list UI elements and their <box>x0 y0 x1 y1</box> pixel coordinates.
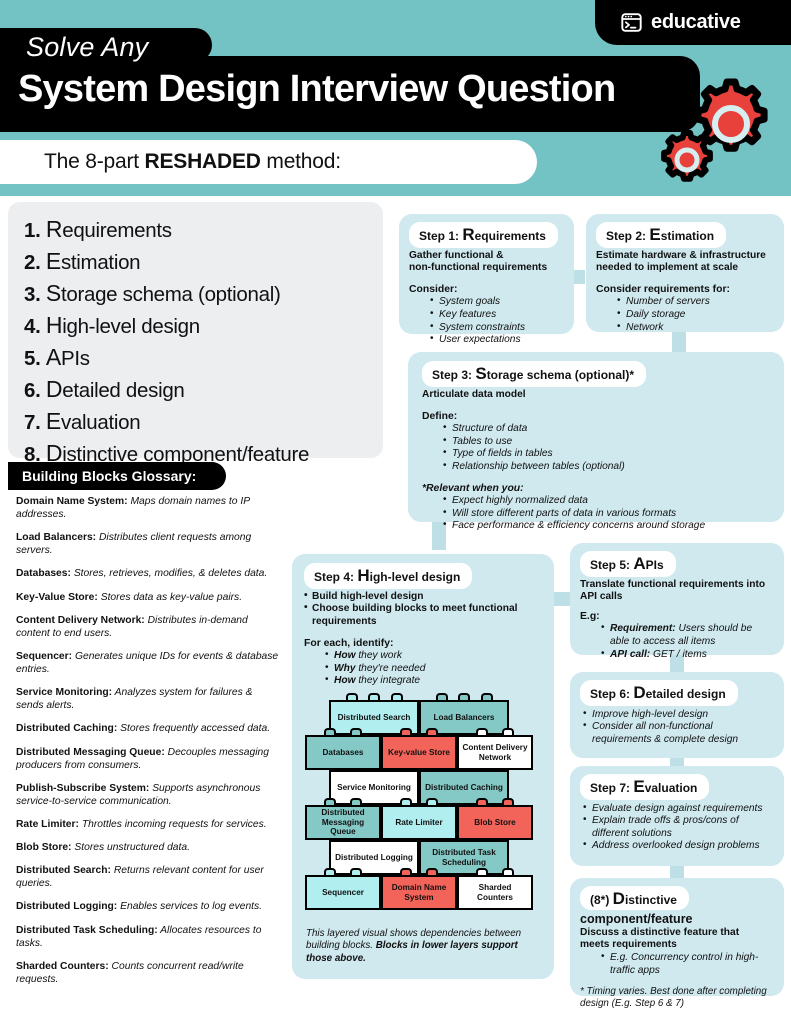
bullet: Will store different parts of data in va… <box>444 508 770 521</box>
glossary-item: Key-Value Store: Stores data as key-valu… <box>16 591 281 604</box>
step-7-title-pill: Step 7: Evaluation <box>580 774 709 800</box>
bullet: Explain trade offs & pros/cons of differ… <box>584 815 774 840</box>
step-2-title: Step 2: Estimation <box>606 229 714 243</box>
lego-brick[interactable]: Distributed Messaging Queue <box>305 805 381 840</box>
lego-brick[interactable]: Domain Name System <box>381 875 457 910</box>
bullet: Relationship between tables (optional) <box>444 461 770 474</box>
step-4-bullets: How they work Why they're needed How the… <box>326 650 542 688</box>
subtitle-keyword: RESHADED <box>145 150 261 173</box>
step-list-item: 3. Storage schema (optional) <box>24 278 367 310</box>
subtitle-pill: The 8-part RESHADED method: <box>0 140 537 184</box>
lego-brick[interactable]: Key-value Store <box>381 735 457 770</box>
step-3-title: Step 3: Storage schema (optional)* <box>432 368 634 382</box>
lego-brick[interactable]: Content Delivery Network <box>457 735 533 770</box>
glossary-item: Publish-Subscribe System: Supports async… <box>16 782 281 808</box>
bullet: Structure of data <box>444 423 770 436</box>
lego-brick[interactable]: Sequencer <box>305 875 381 910</box>
step-2-consider-label: Consider requirements for: <box>596 284 774 295</box>
subtitle-prefix: The 8-part <box>44 150 145 173</box>
step-2-box: Step 2: Estimation Estimate hardware & i… <box>586 214 784 332</box>
bullet: Face performance & efficiency concerns a… <box>444 520 770 533</box>
step-2-body-line-1: Estimate hardware & infrastructure <box>596 250 774 262</box>
step-3-box: Step 3: Storage schema (optional)* Artic… <box>408 352 784 522</box>
bullet: User expectations <box>431 334 564 347</box>
glossary-item: Distributed Caching: Stores frequently a… <box>16 722 281 735</box>
bullet: Network <box>618 322 774 335</box>
glossary-item: Sequencer: Generates unique IDs for even… <box>16 650 281 676</box>
connector-step4-step5 <box>552 592 572 606</box>
step-1-body-line-1: Gather functional & <box>409 250 564 262</box>
glossary-item: Distributed Search: Returns relevant con… <box>16 864 281 890</box>
step-8-body-line-2: meets requirements <box>580 939 774 951</box>
bullet: E.g. Concurrency control in high-traffic… <box>602 952 774 977</box>
subtitle-suffix: method: <box>261 150 341 173</box>
bullet: How they integrate <box>326 675 542 688</box>
step-8-title-line-2: component/feature <box>580 912 774 926</box>
step-6-bullets: Improve high-level design Consider all n… <box>584 709 774 747</box>
subtitle-text: The 8-part RESHADED method: <box>44 150 341 174</box>
step-8-body-line-1: Discuss a distinctive feature that <box>580 927 774 939</box>
step-7-bullets: Evaluate design against requirements Exp… <box>584 803 774 853</box>
bullet: Consider all non-functional requirements… <box>584 721 774 746</box>
step-1-box: Step 1: Requirements Gather functional &… <box>399 214 574 334</box>
title-eyebrow: Solve Any <box>26 32 148 63</box>
glossary-item: Sharded Counters: Counts concurrent read… <box>16 960 281 986</box>
step-8-title: (8*) Distinctive <box>590 893 677 907</box>
infographic-page: educative Solve Any System Design Interv… <box>0 0 791 1024</box>
bullet: System goals <box>431 296 564 309</box>
step-6-title: Step 6: Detailed design <box>590 687 726 701</box>
step-7-box: Step 7: Evaluation Evaluate design again… <box>570 766 784 866</box>
bullet: Key features <box>431 309 564 322</box>
step-4-top-bullets: Build high-level design Choose building … <box>304 591 542 629</box>
glossary-item: Rate Limiter: Throttles incoming request… <box>16 818 281 831</box>
step-6-title-pill: Step 6: Detailed design <box>580 680 738 706</box>
step-8-bullets: E.g. Concurrency control in high-traffic… <box>602 952 774 977</box>
step-5-eg-label: E.g: <box>580 611 774 622</box>
step-2-title-pill: Step 2: Estimation <box>596 222 726 248</box>
step-8-box: (8*) Distinctive component/feature Discu… <box>570 878 784 996</box>
step-5-bullets: Requirement: Users should be able to acc… <box>602 623 774 661</box>
step-6-box: Step 6: Detailed design Improve high-lev… <box>570 672 784 758</box>
reshaded-steps-card: 1. Requirements 2. Estimation 3. Storage… <box>8 202 383 458</box>
lego-brick[interactable]: Sharded Counters <box>457 875 533 910</box>
glossary-title: Building Blocks Glossary: <box>22 468 196 484</box>
bullet: Build high-level design <box>304 591 542 604</box>
bullet: Evaluate design against requirements <box>584 803 774 816</box>
glossary-item: Load Balancers: Distributes client reque… <box>16 531 281 557</box>
step-5-title: Step 5: APIs <box>590 558 664 572</box>
step-3-define-bullets: Structure of data Tables to use Type of … <box>444 423 770 473</box>
page-title: System Design Interview Question <box>18 68 615 111</box>
bullet: System constraints <box>431 322 564 335</box>
bullet: How they work <box>326 650 542 663</box>
terminal-window-icon <box>621 12 642 33</box>
step-8-title-pill: (8*) Distinctive <box>580 886 689 910</box>
step-5-body-line-2: API calls <box>580 591 774 603</box>
building-blocks-diagram: Distributed SearchLoad BalancersDatabase… <box>305 700 533 912</box>
step-1-title-pill: Step 1: Requirements <box>409 222 558 248</box>
step-4-title-pill: Step 4: High-level design <box>304 563 472 589</box>
glossary-title-pill: Building Blocks Glossary: <box>8 462 226 490</box>
bullet: Daily storage <box>618 309 774 322</box>
bullet: Why they're needed <box>326 663 542 676</box>
step-3-relevant-bullets: Expect highly normalized data Will store… <box>444 495 770 533</box>
step-3-body: Articulate data model <box>422 389 770 401</box>
step-5-box: Step 5: APIs Translate functional requir… <box>570 543 784 655</box>
step-1-bullets: System goals Key features System constra… <box>431 296 564 346</box>
gears-icon <box>659 78 789 190</box>
step-8-footnote: * Timing varies. Best done after complet… <box>580 986 774 1011</box>
bullet: API call: GET / items <box>602 649 774 662</box>
step-5-body-line-1: Translate functional requirements into <box>580 579 774 591</box>
glossary-item: Service Monitoring: Analyzes system for … <box>16 686 281 712</box>
glossary-item: Distributed Messaging Queue: Decouples m… <box>16 746 281 772</box>
glossary-item: Databases: Stores, retrieves, modifies, … <box>16 567 281 580</box>
step-list-item: 4. High-level design <box>24 310 367 342</box>
bullet: Requirement: Users should be able to acc… <box>602 623 774 648</box>
lego-brick[interactable]: Rate Limiter <box>381 805 457 840</box>
glossary-item: Domain Name System: Maps domain names to… <box>16 495 281 521</box>
step-4-title: Step 4: High-level design <box>314 570 460 584</box>
glossary-item: Distributed Logging: Enables services to… <box>16 900 281 913</box>
bullet: Type of fields in tables <box>444 448 770 461</box>
glossary-item: Blob Store: Stores unstructured data. <box>16 841 281 854</box>
step-list-item: 6. Detailed design <box>24 374 367 406</box>
logo-wordmark: educative <box>651 11 741 34</box>
step-2-bullets: Number of servers Daily storage Network <box>618 296 774 334</box>
bullet: Tables to use <box>444 436 770 449</box>
step-4-caption: This layered visual shows dependencies b… <box>306 928 538 965</box>
step-list-item: 2. Estimation <box>24 246 367 278</box>
step-1-title: Step 1: Requirements <box>419 229 546 243</box>
step-1-body-line-2: non-functional requirements <box>409 262 564 274</box>
bullet: Expect highly normalized data <box>444 495 770 508</box>
step-2-body-line-2: needed to implement at scale <box>596 262 774 274</box>
step-1-consider-label: Consider: <box>409 284 564 295</box>
step-list-item: 7. Evaluation <box>24 406 367 438</box>
step-3-title-pill: Step 3: Storage schema (optional)* <box>422 361 646 387</box>
bullet: Improve high-level design <box>584 709 774 722</box>
step-5-title-pill: Step 5: APIs <box>580 551 676 577</box>
step-3-define-label: Define: <box>422 411 770 422</box>
step-list-item: 5. APIs <box>24 342 367 374</box>
lego-brick[interactable]: Databases <box>305 735 381 770</box>
lego-brick[interactable]: Blob Store <box>457 805 533 840</box>
step-list-item: 1. Requirements <box>24 214 367 246</box>
bullet: Address overlooked design problems <box>584 840 774 853</box>
step-4-foreach-label: For each, identify: <box>304 638 542 649</box>
educative-logo[interactable]: educative <box>595 0 791 45</box>
glossary-item: Distributed Task Scheduling: Allocates r… <box>16 924 281 950</box>
bullet: Number of servers <box>618 296 774 309</box>
bullet: Choose building blocks to meet functiona… <box>304 603 542 628</box>
step-7-title: Step 7: Evaluation <box>590 781 697 795</box>
glossary-item: Content Delivery Network: Distributes in… <box>16 614 281 640</box>
step-3-relevant-label: *Relevant when you: <box>422 483 770 494</box>
glossary-list: Domain Name System: Maps domain names to… <box>16 495 281 996</box>
